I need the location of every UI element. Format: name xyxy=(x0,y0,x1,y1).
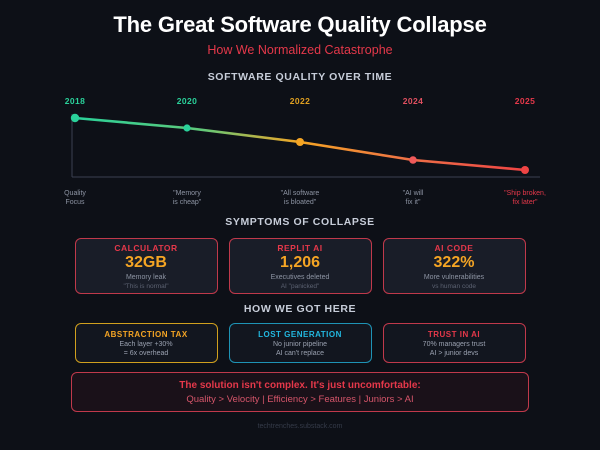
chart-annotation-2020: "Memory is cheap" xyxy=(173,190,202,207)
cause-line-1: No junior pipeline xyxy=(273,341,327,348)
annotation-line-1: "Ship broken, xyxy=(504,190,546,199)
causes-heading: HOW WE GOT HERE xyxy=(0,303,600,315)
chart-annotation-2018: Quality Focus xyxy=(64,190,86,207)
chart-xtick-2018: 2018 xyxy=(65,96,86,106)
footer-source: techtrenches.substack.com xyxy=(0,423,600,430)
annotation-line-1: "AI will xyxy=(403,190,424,199)
cause-line-1: Each layer +30% xyxy=(119,341,172,348)
causes-card-row: ABSTRACTION TAX Each layer +30% = 6x ove… xyxy=(0,323,600,363)
chart-point-2024 xyxy=(409,156,417,164)
symptom-value: 1,206 xyxy=(280,254,320,272)
annotation-line-2: is bloated" xyxy=(281,199,320,208)
cause-card-trust-in-ai: TRUST IN AI 70% managers trust AI > juni… xyxy=(383,323,526,363)
solution-banner: The solution isn't complex. It's just un… xyxy=(71,372,529,412)
page-subtitle: How We Normalized Catastrophe xyxy=(0,38,600,57)
symptom-title: REPLIT AI xyxy=(277,243,322,253)
chart-annotation-2022: "All software is bloated" xyxy=(281,190,320,207)
annotation-line-2: Focus xyxy=(64,199,86,208)
cause-line-1: 70% managers trust xyxy=(423,341,486,348)
chart-point-2018 xyxy=(71,114,79,122)
symptom-quote: "This is normal" xyxy=(123,283,168,290)
quality-over-time-chart: 2018 2020 2022 2024 2025 Quality Focus "… xyxy=(0,96,600,214)
chart-annotation-2024: "AI will fix it" xyxy=(403,190,424,207)
symptom-card-replit-ai: REPLIT AI 1,206 Executives deleted AI "p… xyxy=(229,238,372,294)
banner-priorities: Quality > Velocity | Efficiency > Featur… xyxy=(186,394,413,405)
cause-title: TRUST IN AI xyxy=(428,330,480,339)
cause-title: LOST GENERATION xyxy=(258,330,342,339)
page-title: The Great Software Quality Collapse xyxy=(0,0,600,38)
annotation-line-2: is cheap" xyxy=(173,199,202,208)
chart-section-heading: SOFTWARE QUALITY OVER TIME xyxy=(0,71,600,83)
symptom-quote: vs human code xyxy=(432,283,476,290)
annotation-line-1: "Memory xyxy=(173,190,202,199)
cause-line-2: AI can't replace xyxy=(276,350,324,357)
annotation-line-1: Quality xyxy=(64,190,86,199)
symptom-title: AI CODE xyxy=(435,243,474,253)
cause-line-2: = 6x overhead xyxy=(124,350,169,357)
chart-point-2020 xyxy=(183,124,190,131)
annotation-line-2: fix it" xyxy=(403,199,424,208)
symptom-subtitle: Executives deleted xyxy=(271,274,330,281)
chart-annotation-2025: "Ship broken, fix later" xyxy=(504,190,546,207)
symptom-title: CALCULATOR xyxy=(114,243,177,253)
symptom-card-ai-code: AI CODE 322% More vulnerabilities vs hum… xyxy=(383,238,526,294)
annotation-line-1: "All software xyxy=(281,190,320,199)
symptom-value: 322% xyxy=(434,254,475,272)
symptom-card-calculator: CALCULATOR 32GB Memory leak "This is nor… xyxy=(75,238,218,294)
cause-card-lost-generation: LOST GENERATION No junior pipeline AI ca… xyxy=(229,323,372,363)
symptom-subtitle: Memory leak xyxy=(126,274,166,281)
annotation-line-2: fix later" xyxy=(504,199,546,208)
cause-card-abstraction-tax: ABSTRACTION TAX Each layer +30% = 6x ove… xyxy=(75,323,218,363)
chart-xtick-2024: 2024 xyxy=(403,96,424,106)
chart-xtick-2025: 2025 xyxy=(515,96,536,106)
chart-point-2022 xyxy=(296,138,304,146)
symptoms-heading: SYMPTOMS OF COLLAPSE xyxy=(0,216,600,228)
cause-title: ABSTRACTION TAX xyxy=(104,330,187,339)
cause-line-2: AI > junior devs xyxy=(430,350,478,357)
chart-xtick-2020: 2020 xyxy=(177,96,198,106)
infographic-page: The Great Software Quality Collapse How … xyxy=(0,0,600,450)
banner-headline: The solution isn't complex. It's just un… xyxy=(179,380,420,391)
symptoms-card-row: CALCULATOR 32GB Memory leak "This is nor… xyxy=(0,238,600,294)
symptom-subtitle: More vulnerabilities xyxy=(424,274,484,281)
chart-xtick-2022: 2022 xyxy=(290,96,311,106)
chart-point-2025 xyxy=(521,166,529,174)
symptom-quote: AI "panicked" xyxy=(281,283,320,290)
symptom-value: 32GB xyxy=(125,254,167,272)
